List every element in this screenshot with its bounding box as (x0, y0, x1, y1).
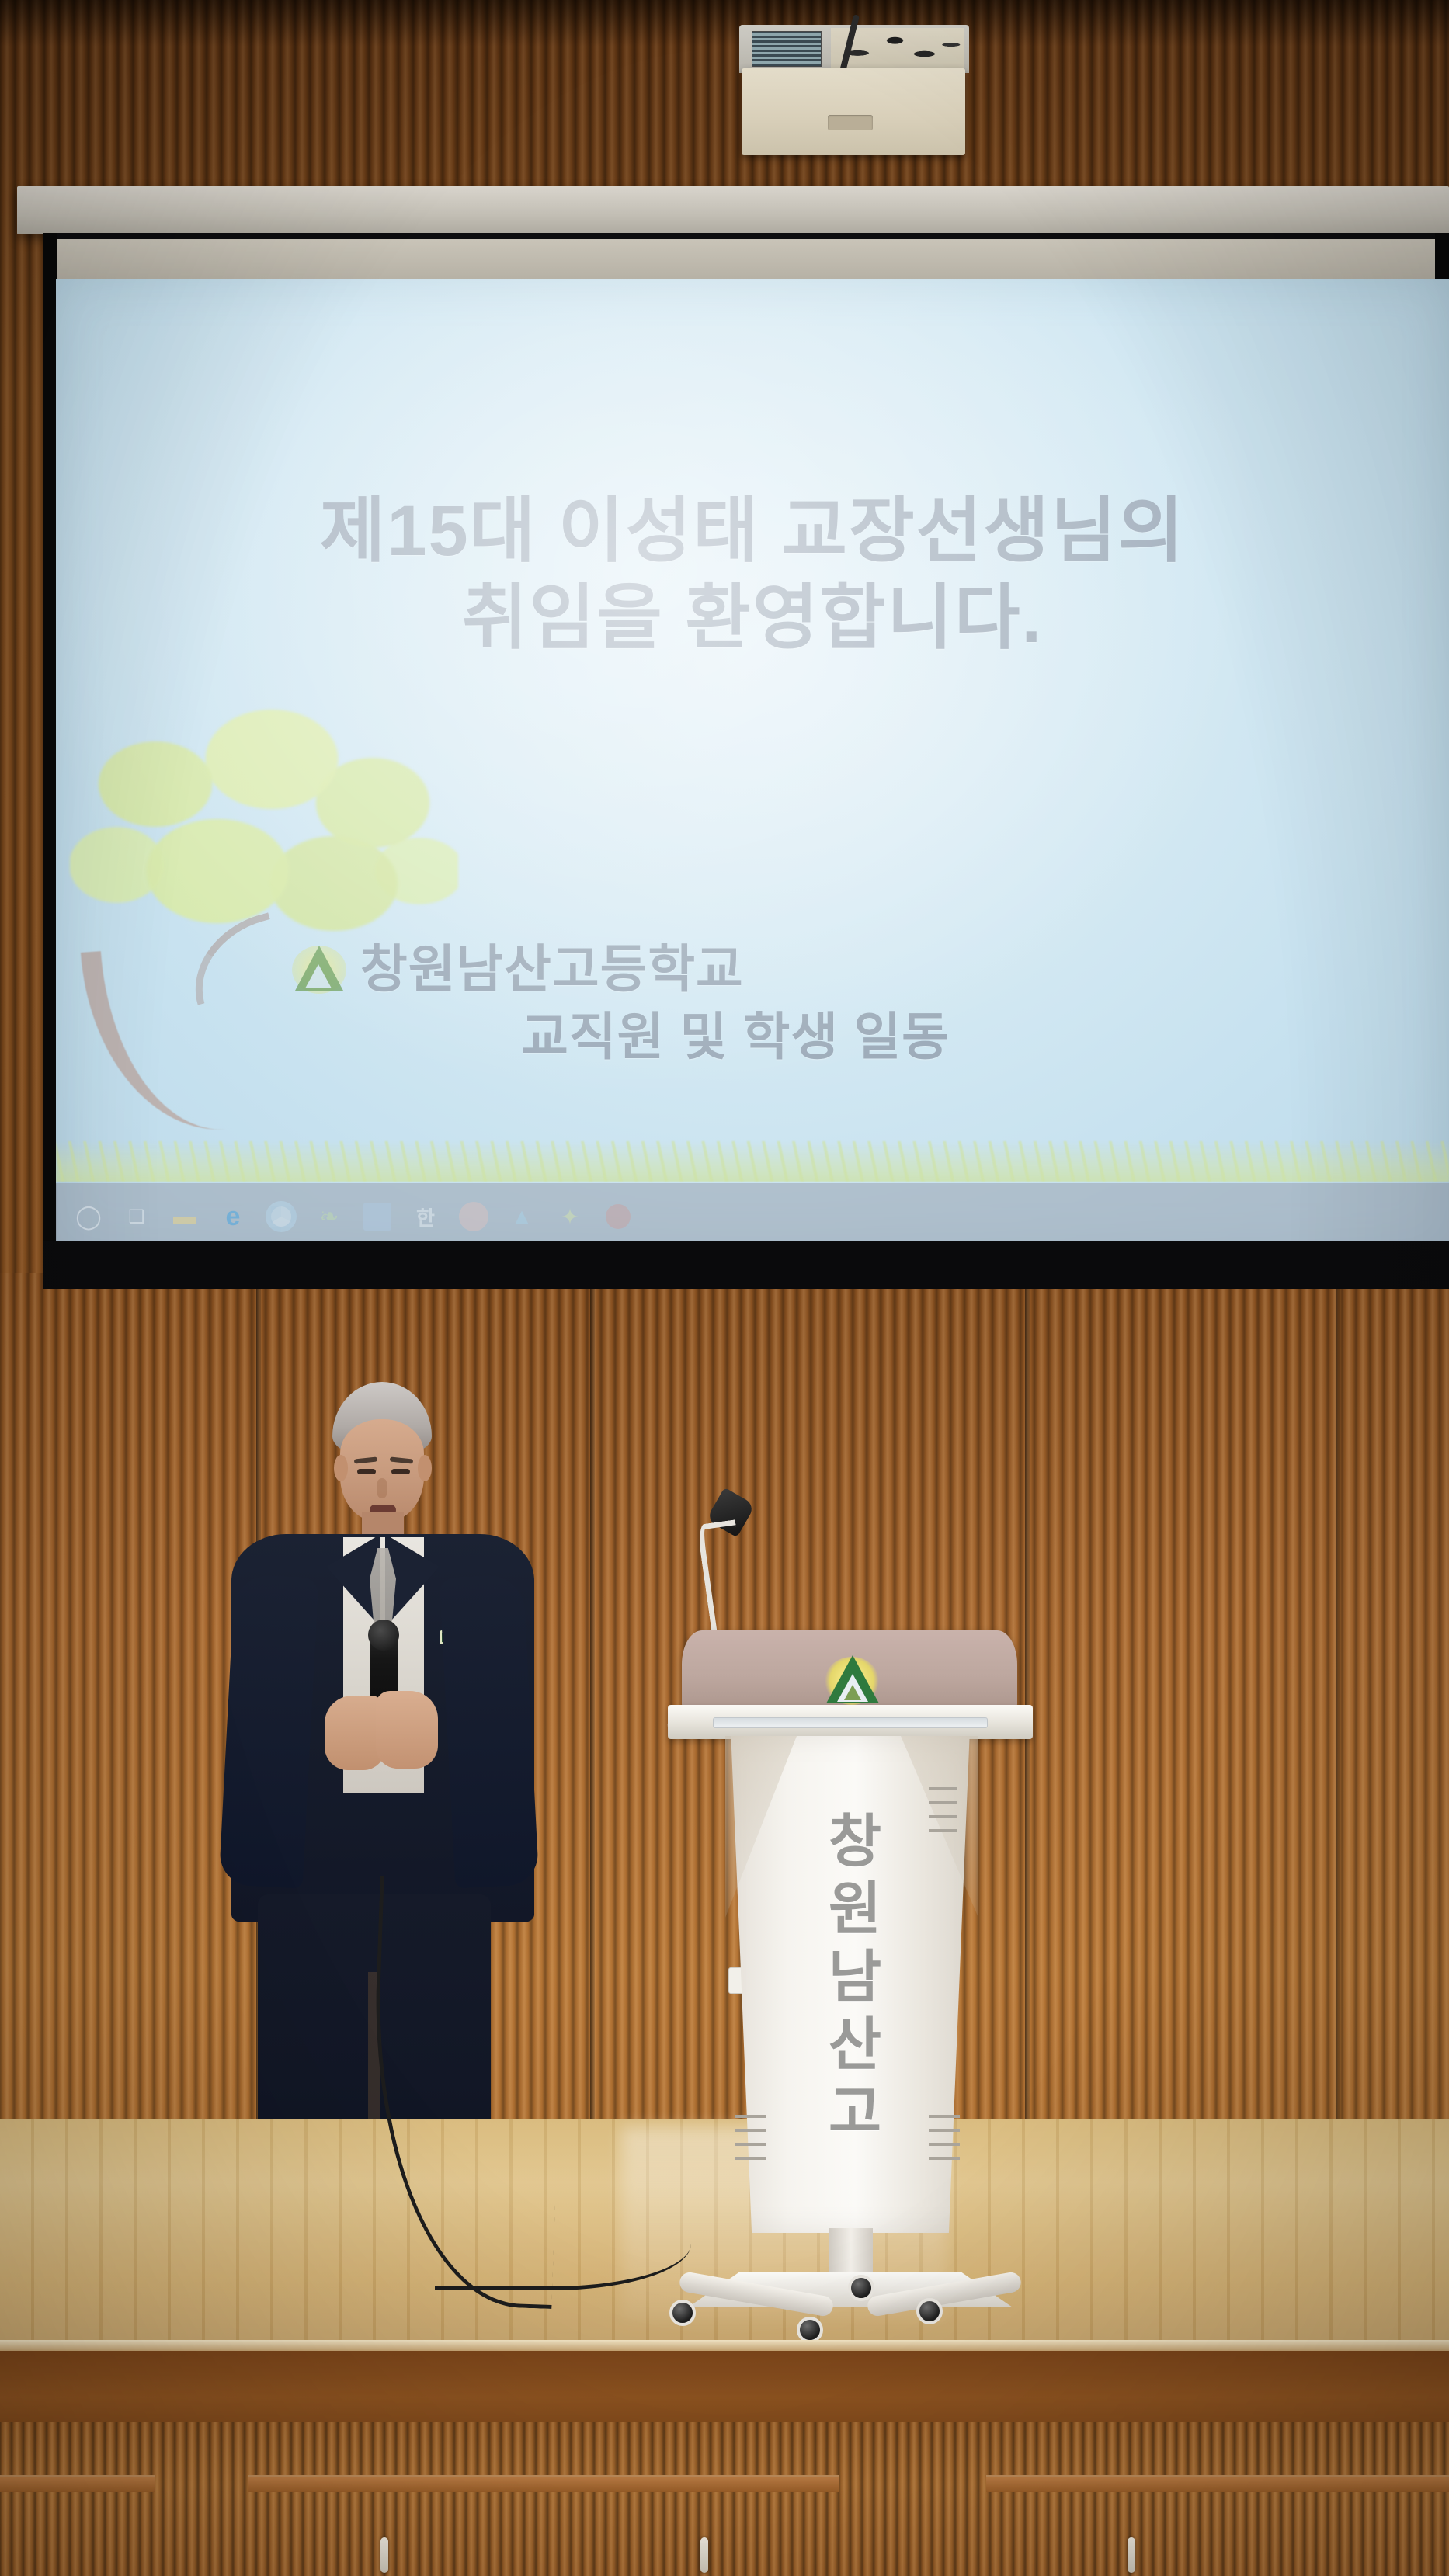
stage-panel-handle[interactable] (1128, 2537, 1135, 2573)
stage-panel-handle[interactable] (700, 2537, 708, 2573)
kakao-icon[interactable] (452, 1195, 495, 1238)
school-emblem-icon (289, 941, 349, 998)
leaf-icon[interactable]: ❧ (308, 1195, 351, 1238)
screen-border-bottom (43, 1241, 1449, 1289)
search-icon[interactable]: ◯ (67, 1195, 110, 1238)
internet-explorer-icon[interactable]: e (211, 1195, 255, 1238)
twitter-icon[interactable]: ▲ (500, 1195, 544, 1238)
lectern-shelf-slot (713, 1717, 988, 1728)
lectern-school-name-vertical: 창 원 남 산 고 (812, 1807, 898, 2147)
presenter-ear-right (418, 1455, 432, 1481)
slide-title: 제15대 이성태 교장선생님의 취임을 환영합니다. (56, 488, 1449, 661)
stage-panel-rail (248, 2475, 839, 2492)
ceiling-shadow (0, 0, 1449, 47)
red-app-icon[interactable] (596, 1195, 640, 1238)
presenter-nose (377, 1478, 387, 1498)
chrome-icon[interactable] (259, 1195, 303, 1238)
projector-vent-grille (752, 31, 822, 67)
stage-panel-handle[interactable] (380, 2537, 388, 2573)
wall-seam (1336, 1273, 1340, 2119)
tree-trunk (81, 943, 241, 1139)
slide-organization-block: 창원남산고등학교 교직원 및 학생 일동 (289, 936, 1182, 1071)
file-explorer-icon[interactable]: ▬ (163, 1195, 207, 1238)
projection-screen-top-band (56, 239, 1449, 284)
hancom-icon[interactable]: 한 (404, 1195, 447, 1238)
slide-title-line2: 취임을 환영합니다. (56, 575, 1449, 661)
lectern: 창 원 남 산 고 (668, 1630, 1033, 2314)
lectern-caster (848, 2275, 874, 2301)
lectern-caster (669, 2300, 696, 2326)
ceiling-projector (742, 68, 965, 155)
slide-org-row-1: 창원남산고등학교 (289, 936, 1182, 1003)
photo-scene: 제15대 이성태 교장선생님의 취임을 환영합니다. 창원남산고등학교 교직원 … (0, 0, 1449, 2576)
lectern-caster (916, 2298, 943, 2324)
task-view-icon[interactable]: ❏ (115, 1195, 158, 1238)
slide-title-line1: 제15대 이성태 교장선생님의 (320, 491, 1186, 571)
slide-org-line2: 교직원 및 학생 일동 (521, 1008, 950, 1065)
wall-seam (590, 1273, 595, 2119)
presenter-eye-right (391, 1469, 410, 1474)
lectern-char-3: 남 (812, 1943, 898, 2011)
green-app-icon[interactable]: ✦ (548, 1195, 592, 1238)
lectern-stem (829, 2228, 873, 2278)
projection-screen-housing (17, 186, 1449, 234)
presenter-arm-right (440, 1574, 540, 1888)
school-emblem-icon (820, 1652, 885, 1708)
blue-app-icon[interactable] (356, 1195, 399, 1238)
lectern-char-1: 창 (812, 1807, 898, 1875)
projector-lens (828, 115, 873, 130)
lectern-caster (797, 2317, 823, 2343)
microphone-head (368, 1620, 399, 1651)
stage-front-slat-panels (0, 2422, 1449, 2576)
stage-panel-rail (986, 2475, 1449, 2492)
lectern-char-2: 원 (812, 1875, 898, 1942)
lectern-vent-right (929, 2112, 960, 2160)
lectern-vent-upper-right (929, 1786, 957, 1832)
stage-panel-rail (0, 2475, 155, 2492)
lectern-char-4: 산 (812, 2011, 898, 2078)
grass-illustration (56, 1141, 1449, 1182)
presenter-arm-left (219, 1574, 319, 1888)
lectern-char-5: 고 (812, 2078, 898, 2146)
slide-org-line1: 창원남산고등학교 (360, 936, 744, 1003)
slide-org-line2-wrap: 교직원 및 학생 일동 (289, 1003, 1182, 1071)
presenter-eye-left (357, 1469, 376, 1474)
lectern-vent-left (735, 2112, 766, 2160)
presenter-hand-right (376, 1691, 438, 1769)
projection-screen: 제15대 이성태 교장선생님의 취임을 환영합니다. 창원남산고등학교 교직원 … (56, 279, 1449, 1250)
presenter-ear-left (334, 1455, 348, 1481)
